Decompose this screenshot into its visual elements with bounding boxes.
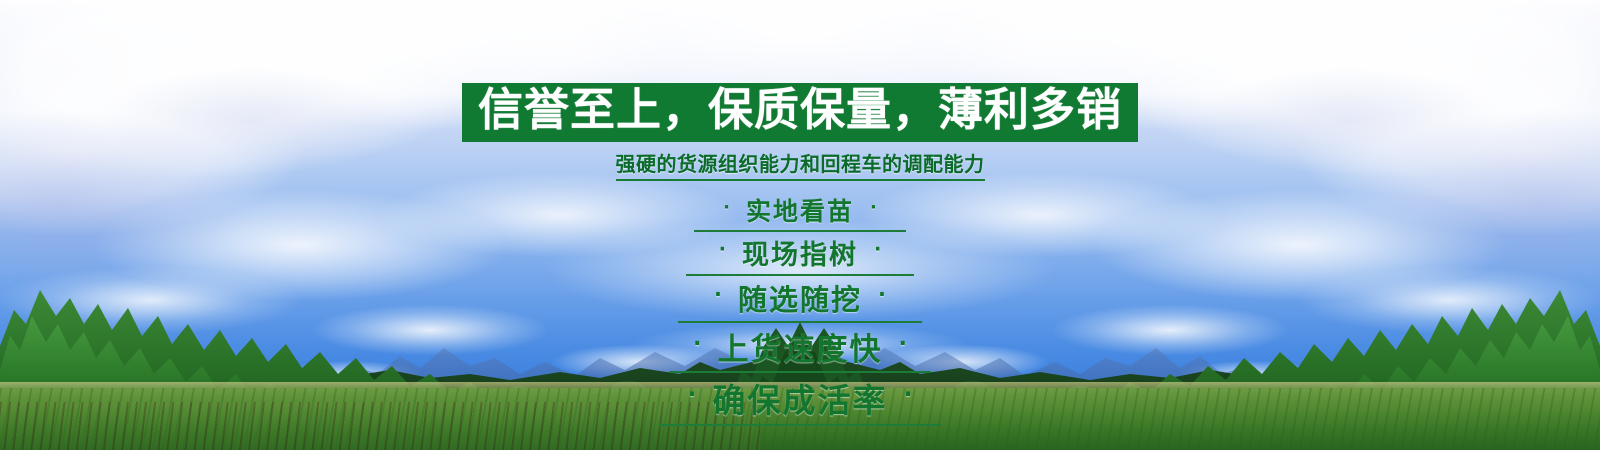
feature-item: · 随选随挖 · bbox=[678, 276, 922, 323]
feature-label: 上货速度快 bbox=[702, 324, 899, 369]
bullet-dot-icon: · bbox=[723, 198, 730, 216]
bullet-dot-icon: · bbox=[870, 198, 877, 216]
crop-rows bbox=[0, 402, 760, 450]
hero-banner: 信誉至上，保质保量，薄利多销 强硬的货源组织能力和回程车的调配能力 · 实地看苗… bbox=[0, 0, 1600, 450]
headline-text: 信誉至上，保质保量，薄利多销 bbox=[478, 86, 1122, 135]
feature-label: 确保成活率 bbox=[697, 374, 904, 422]
headline-banner: 信誉至上，保质保量，薄利多销 bbox=[462, 83, 1138, 142]
bullet-dot-icon: · bbox=[719, 240, 726, 259]
bullet-dot-icon: · bbox=[687, 383, 696, 407]
feature-label: 随选随挖 bbox=[722, 277, 878, 319]
feature-item: · 实地看苗 · bbox=[694, 191, 906, 232]
bullet-dot-icon: · bbox=[874, 240, 881, 259]
feature-list: · 实地看苗 · · 现场指树 · · 随选随挖 · · 上货速度快 · · bbox=[659, 191, 941, 426]
bullet-dot-icon: · bbox=[693, 332, 701, 354]
feature-item: · 确保成活率 · bbox=[659, 373, 941, 426]
bullet-dot-icon: · bbox=[899, 332, 907, 354]
subtitle-text: 强硬的货源组织能力和回程车的调配能力 bbox=[616, 148, 985, 181]
feature-label: 实地看苗 bbox=[730, 192, 870, 228]
bullet-dot-icon: · bbox=[904, 383, 913, 407]
feature-label: 现场指树 bbox=[726, 233, 874, 272]
bullet-dot-icon: · bbox=[714, 285, 722, 306]
feature-item: · 上货速度快 · bbox=[669, 323, 931, 373]
bullet-dot-icon: · bbox=[878, 285, 886, 306]
feature-item: · 现场指树 · bbox=[686, 232, 914, 276]
